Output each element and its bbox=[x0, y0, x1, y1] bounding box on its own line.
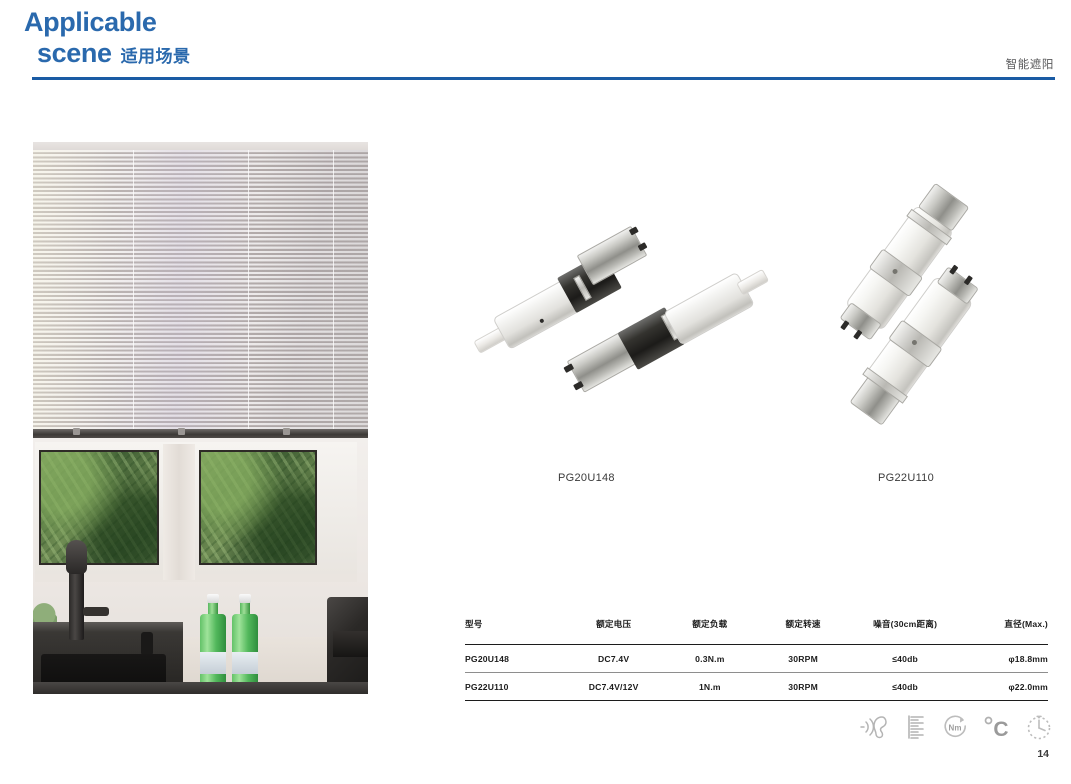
cell-load: 0.3N.m bbox=[663, 645, 756, 673]
counter-edge bbox=[33, 682, 368, 694]
soap-dispenser bbox=[141, 632, 153, 654]
table-row: PG22U110 DC7.4V/12V 1N.m 30RPM ≤40db φ22… bbox=[465, 673, 1048, 701]
product-photo-pg22u110 bbox=[815, 222, 1005, 442]
timer-clock-icon bbox=[1025, 713, 1053, 741]
cell-noise: ≤40db bbox=[850, 645, 961, 673]
product-label-pg20u148: PG20U148 bbox=[558, 472, 615, 484]
cell-model: PG20U148 bbox=[465, 645, 564, 673]
column-header-voltage: 额定电压 bbox=[564, 618, 663, 645]
catalog-page: Applicable scene 适用场景 智能遮阳 bbox=[0, 0, 1071, 784]
application-scene-photo bbox=[33, 142, 368, 694]
cell-noise: ≤40db bbox=[850, 673, 961, 701]
window-pane-left bbox=[39, 450, 159, 565]
table-row: PG20U148 DC7.4V 0.3N.m 30RPM ≤40db φ18.8… bbox=[465, 645, 1048, 673]
ruler-scale-icon bbox=[906, 714, 926, 740]
window-pane-right bbox=[199, 450, 317, 565]
cell-model: PG22U110 bbox=[465, 673, 564, 701]
noise-ear-icon bbox=[858, 714, 892, 740]
column-header-noise: 噪音(30cm距离) bbox=[850, 618, 961, 645]
venetian-blind bbox=[33, 150, 368, 433]
window-mullion bbox=[163, 444, 195, 580]
cell-speed: 30RPM bbox=[756, 645, 849, 673]
motor-shaft bbox=[736, 269, 769, 296]
header-divider bbox=[32, 77, 1055, 80]
page-title: Applicable scene 适用场景 bbox=[24, 8, 191, 68]
cell-voltage: DC7.4V bbox=[564, 645, 663, 673]
torque-nm-label: Nm bbox=[948, 724, 961, 733]
faucet-head bbox=[66, 540, 87, 574]
page-number: 14 bbox=[1037, 748, 1049, 760]
column-header-model: 型号 bbox=[465, 618, 564, 645]
title-english-line1: Applicable bbox=[24, 8, 191, 37]
product-label-pg22u110: PG22U110 bbox=[878, 472, 934, 484]
specification-table: 型号 额定电压 额定负载 额定转速 噪音(30cm距离) 直径(Max.) PG… bbox=[465, 618, 1048, 701]
celsius-letter: C bbox=[993, 718, 1008, 740]
page-header: Applicable scene 适用场景 智能遮阳 bbox=[0, 0, 1071, 90]
cell-speed: 30RPM bbox=[756, 673, 849, 701]
column-header-diameter: 直径(Max.) bbox=[961, 618, 1048, 645]
blind-cord bbox=[248, 150, 249, 433]
rail-clip bbox=[73, 428, 80, 435]
title-english-line2: scene bbox=[37, 38, 112, 68]
green-bottle bbox=[200, 594, 226, 690]
coffee-machine bbox=[327, 597, 368, 694]
attribute-icon-strip: Nm C bbox=[858, 706, 1053, 748]
table-header-row: 型号 额定电压 额定负载 额定转速 噪音(30cm距离) 直径(Max.) bbox=[465, 618, 1048, 645]
blind-cord bbox=[333, 150, 334, 433]
header-category-label: 智能遮阳 bbox=[1006, 56, 1054, 72]
rail-clip bbox=[178, 428, 185, 435]
temperature-celsius-icon: C bbox=[983, 714, 1011, 740]
column-header-speed: 额定转速 bbox=[756, 618, 849, 645]
cell-voltage: DC7.4V/12V bbox=[564, 673, 663, 701]
blind-cord bbox=[133, 150, 134, 433]
rail-clip bbox=[283, 428, 290, 435]
title-chinese: 适用场景 bbox=[121, 42, 191, 67]
cell-diameter: φ18.8mm bbox=[961, 645, 1048, 673]
cell-diameter: φ22.0mm bbox=[961, 673, 1048, 701]
column-header-load: 额定负载 bbox=[663, 618, 756, 645]
torque-nm-icon: Nm bbox=[941, 713, 969, 741]
product-photo-pg20u148 bbox=[455, 245, 765, 460]
green-bottle bbox=[232, 594, 258, 690]
faucet-handle bbox=[83, 607, 109, 616]
cell-load: 1N.m bbox=[663, 673, 756, 701]
